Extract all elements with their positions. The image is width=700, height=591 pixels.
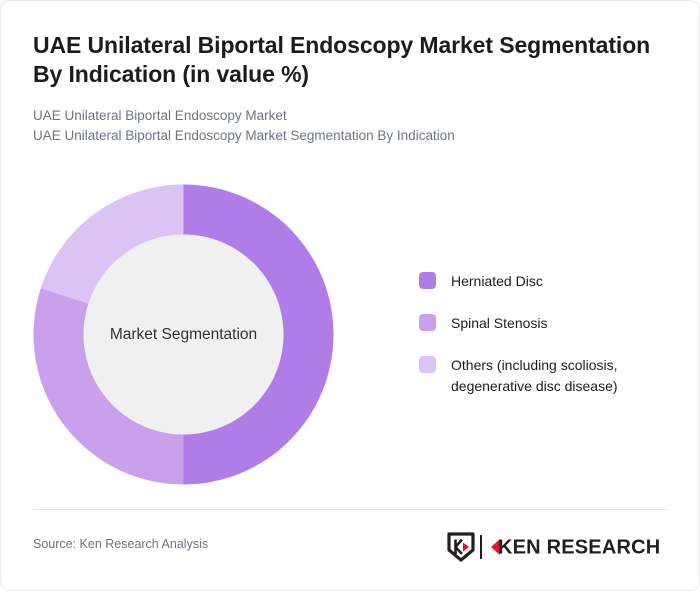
donut-hole <box>84 235 284 435</box>
donut-chart: Market Segmentation <box>33 184 334 485</box>
chart-header: UAE Unilateral Biportal Endoscopy Market… <box>33 31 653 147</box>
legend-swatch <box>419 356 436 373</box>
brand-wordmark: KEN RESEARCH <box>489 535 669 559</box>
page-title: UAE Unilateral Biportal Endoscopy Market… <box>33 31 653 90</box>
subtitle-primary: UAE Unilateral Biportal Endoscopy Market <box>33 106 653 127</box>
legend-item[interactable]: Spinal Stenosis <box>419 313 669 334</box>
subtitle-group: UAE Unilateral Biportal Endoscopy Market… <box>33 106 653 147</box>
legend-swatch <box>419 272 436 289</box>
brand-divider <box>480 535 482 559</box>
chart-card: UAE Unilateral Biportal Endoscopy Market… <box>0 0 700 591</box>
legend-swatch <box>419 314 436 331</box>
brand-logo: KEN RESEARCH <box>447 531 669 563</box>
chart-footer: Source: Ken Research Analysis KEN RESEAR… <box>33 531 669 563</box>
legend-label: Herniated Disc <box>451 271 543 292</box>
source-note: Source: Ken Research Analysis <box>33 537 208 551</box>
subtitle-secondary: UAE Unilateral Biportal Endoscopy Market… <box>33 126 653 147</box>
brand-wordmark-text: KEN RESEARCH <box>498 537 660 559</box>
ken-research-shield-icon <box>447 532 475 562</box>
chart-plot-area: Market Segmentation Herniated DiscSpinal… <box>1 161 700 501</box>
legend-item[interactable]: Herniated Disc <box>419 271 669 292</box>
legend-label: Spinal Stenosis <box>451 313 548 334</box>
donut-chart-svg <box>33 184 334 485</box>
legend-label: Others (including scoliosis, degenerativ… <box>451 355 669 397</box>
footer-divider <box>33 509 669 510</box>
legend-item[interactable]: Others (including scoliosis, degenerativ… <box>419 355 669 397</box>
chart-legend: Herniated DiscSpinal StenosisOthers (inc… <box>419 271 669 418</box>
